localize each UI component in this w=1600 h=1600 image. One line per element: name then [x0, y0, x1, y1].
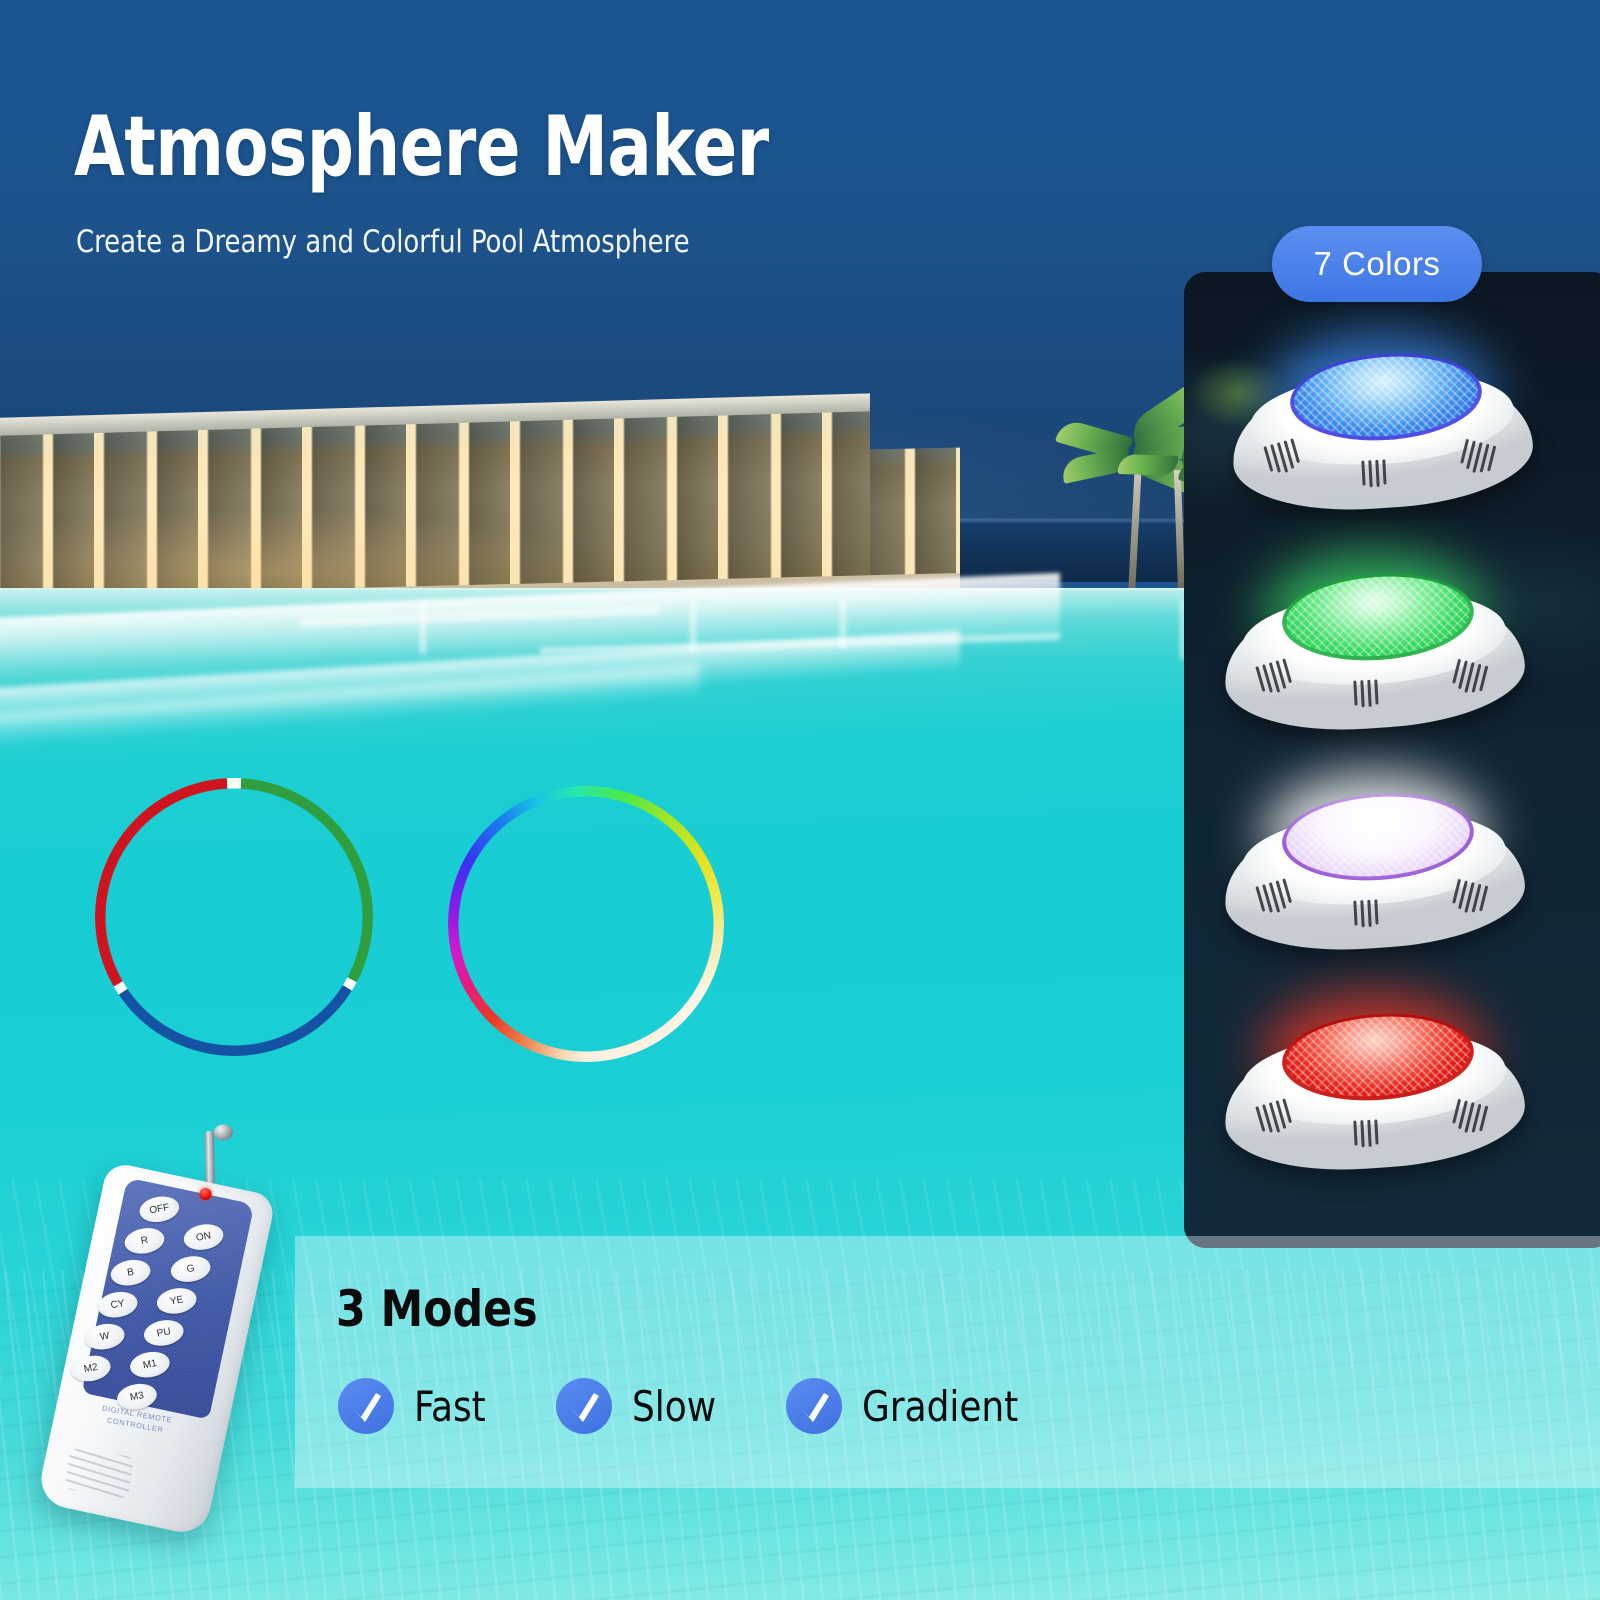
mode-item-gradient: Gradient [786, 1378, 1026, 1434]
remote-key-label: YE [169, 1294, 184, 1307]
check-icon [556, 1378, 612, 1434]
lamp-vent [1353, 679, 1378, 707]
modes-list: Fast Slow Gradient [338, 1378, 1027, 1434]
lamp-green [1224, 562, 1524, 742]
product-marketing-image: Atmosphere Maker Create a Dreamy and Col… [0, 0, 1600, 1600]
lamp-vent [1353, 899, 1378, 927]
mode-item-slow: Slow [556, 1378, 721, 1434]
remote-key-label: B [126, 1267, 134, 1279]
remote-key-label: R [140, 1235, 149, 1247]
check-icon [338, 1378, 394, 1434]
lamp-vent [1361, 459, 1386, 487]
check-icon [786, 1378, 842, 1434]
seven-colors-badge: 7 Colors [1272, 226, 1482, 302]
lamp-vent [1353, 1119, 1378, 1147]
water-reflection [690, 600, 696, 652]
lamp-blue [1232, 342, 1532, 522]
remote-key-label: W [99, 1330, 110, 1342]
colors-panel [1184, 272, 1600, 1248]
mode-label: Slow [632, 1382, 716, 1431]
remote-key-label: M1 [142, 1358, 158, 1371]
remote-grip-lines [64, 1447, 134, 1498]
rgb-color-ring [95, 778, 373, 1056]
lamp-white [1224, 782, 1524, 962]
modes-overlay-band [295, 1236, 1600, 1488]
rainbow-color-ring [448, 786, 724, 1062]
page-title: Atmosphere Maker [74, 98, 769, 195]
remote-key-label: CY [110, 1298, 126, 1311]
mode-label: Fast [414, 1382, 486, 1431]
badge-label: 7 Colors [1314, 245, 1441, 283]
water-reflection [840, 598, 846, 648]
remote-key-label: M2 [83, 1362, 99, 1375]
modes-title: 3 Modes [336, 1280, 538, 1338]
mode-item-fast: Fast [338, 1378, 490, 1434]
lamp-red [1224, 1002, 1524, 1182]
page-subtitle: Create a Dreamy and Colorful Pool Atmosp… [76, 224, 690, 260]
remote-key-label: PU [156, 1326, 172, 1339]
remote-key-label: OFF [149, 1202, 171, 1216]
water-reflection [420, 600, 426, 654]
remote-key-label: G [186, 1263, 196, 1275]
remote-antenna-tip [214, 1124, 233, 1140]
mode-label: Gradient [862, 1382, 1018, 1431]
remote-key-label: M3 [129, 1390, 145, 1403]
remote-key-label: ON [195, 1230, 212, 1243]
